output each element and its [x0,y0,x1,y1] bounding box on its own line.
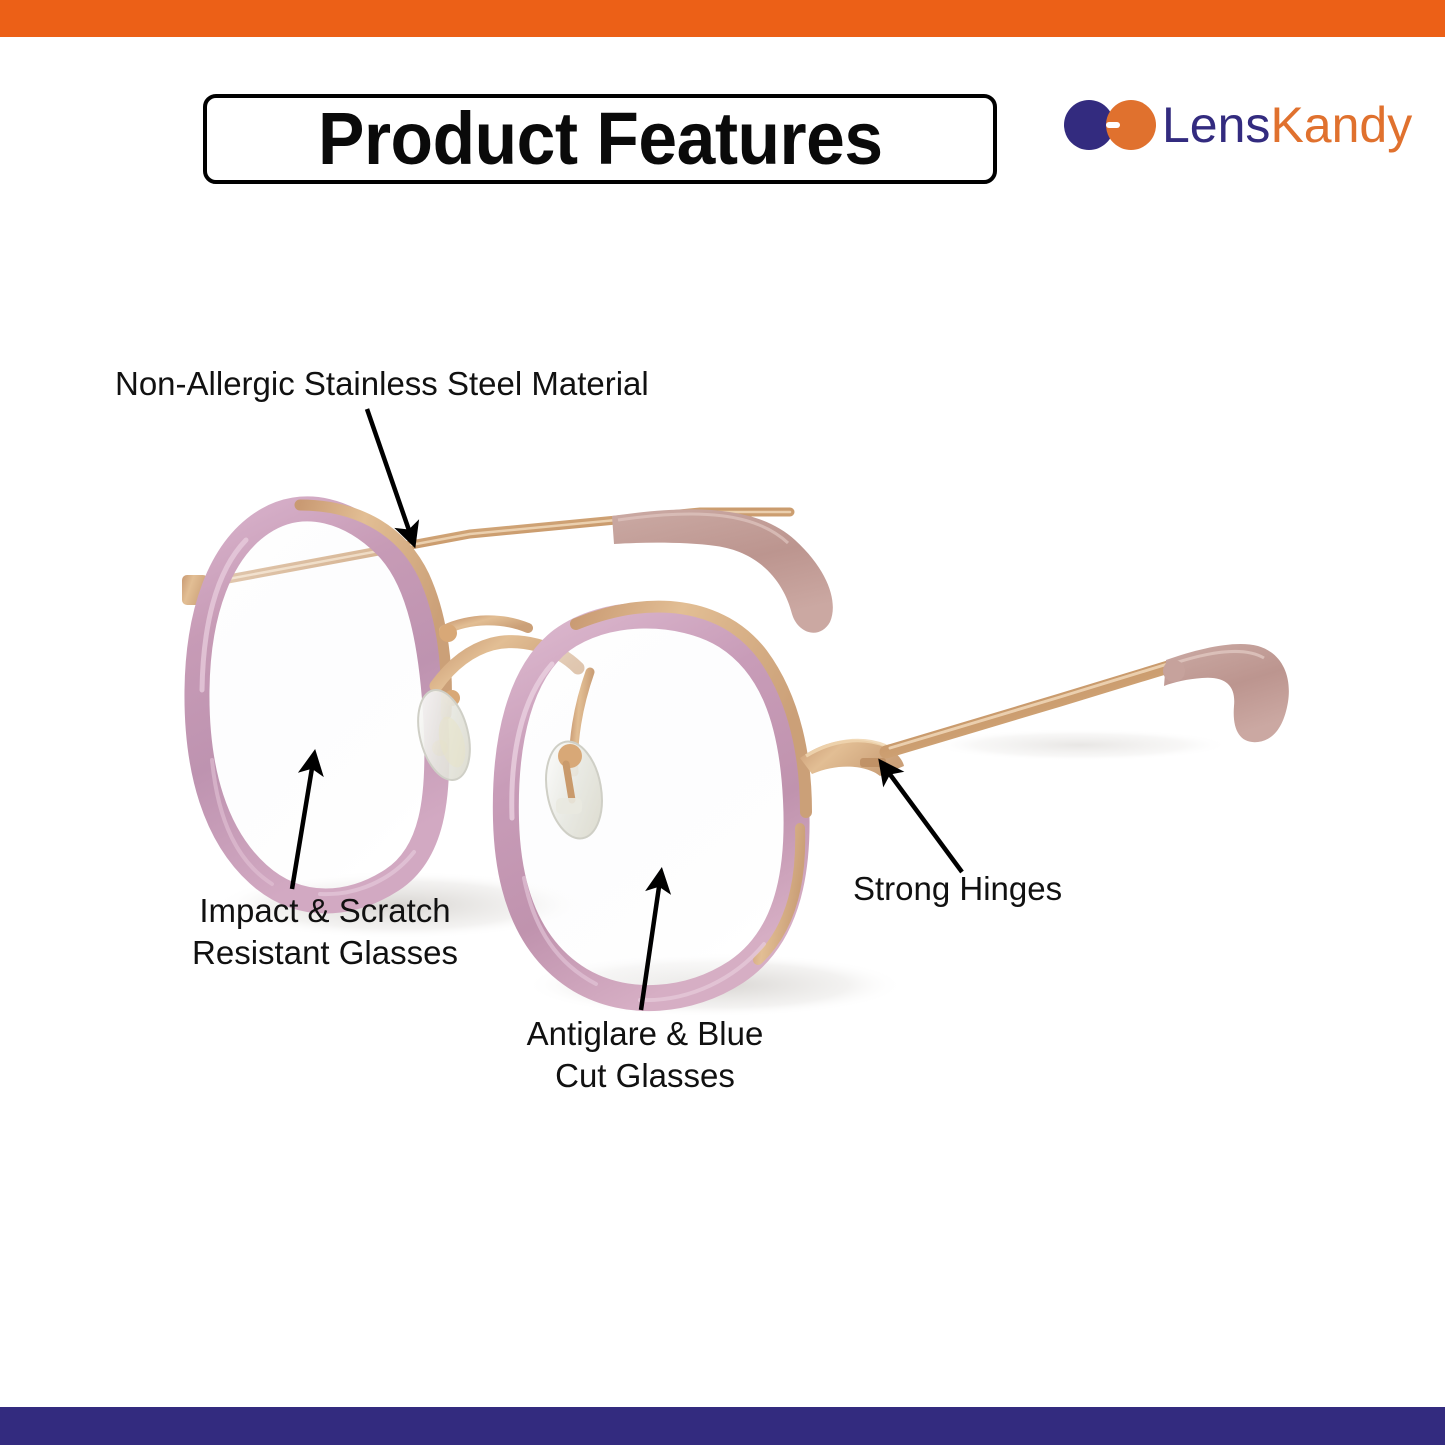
bridge-assembly [410,620,578,785]
leader-line-impact [292,762,313,889]
feature-label-antiglare: Antiglare & Blue Cut Glasses [505,1013,785,1097]
lens-left [197,505,446,901]
temple-tip-far [612,509,833,632]
logo-word-lens: Lens [1162,97,1270,153]
temple-arm-near [886,662,1178,752]
top-brand-bar [0,0,1445,37]
page-title: Product Features [318,102,883,176]
leader-line-material [367,409,411,536]
logo-bridge-icon [1106,122,1120,128]
bottom-brand-bar [0,1407,1445,1445]
nose-pad-near [539,672,609,843]
feature-label-material: Non-Allergic Stainless Steel Material [115,363,649,405]
temple-arm-far [182,512,790,605]
infographic-page: Product Features LensKandy [0,0,1445,1445]
feature-label-impact: Impact & Scratch Resistant Glasses [180,890,470,974]
logo-glasses-icon [1062,100,1158,152]
hinge-near [800,740,904,776]
feature-label-hinges: Strong Hinges [853,868,1062,910]
leader-line-hinges [886,769,962,872]
logo-word-kandy: Kandy [1270,97,1412,153]
product-photo-eyeglasses [0,0,1445,1445]
page-title-box: Product Features [203,94,997,184]
leader-line-antiglare [641,880,660,1010]
brand-logo: LensKandy [1062,92,1412,168]
lens-right [506,607,806,1001]
logo-wordmark: LensKandy [1162,94,1412,156]
temple-tip-near [1163,644,1289,742]
